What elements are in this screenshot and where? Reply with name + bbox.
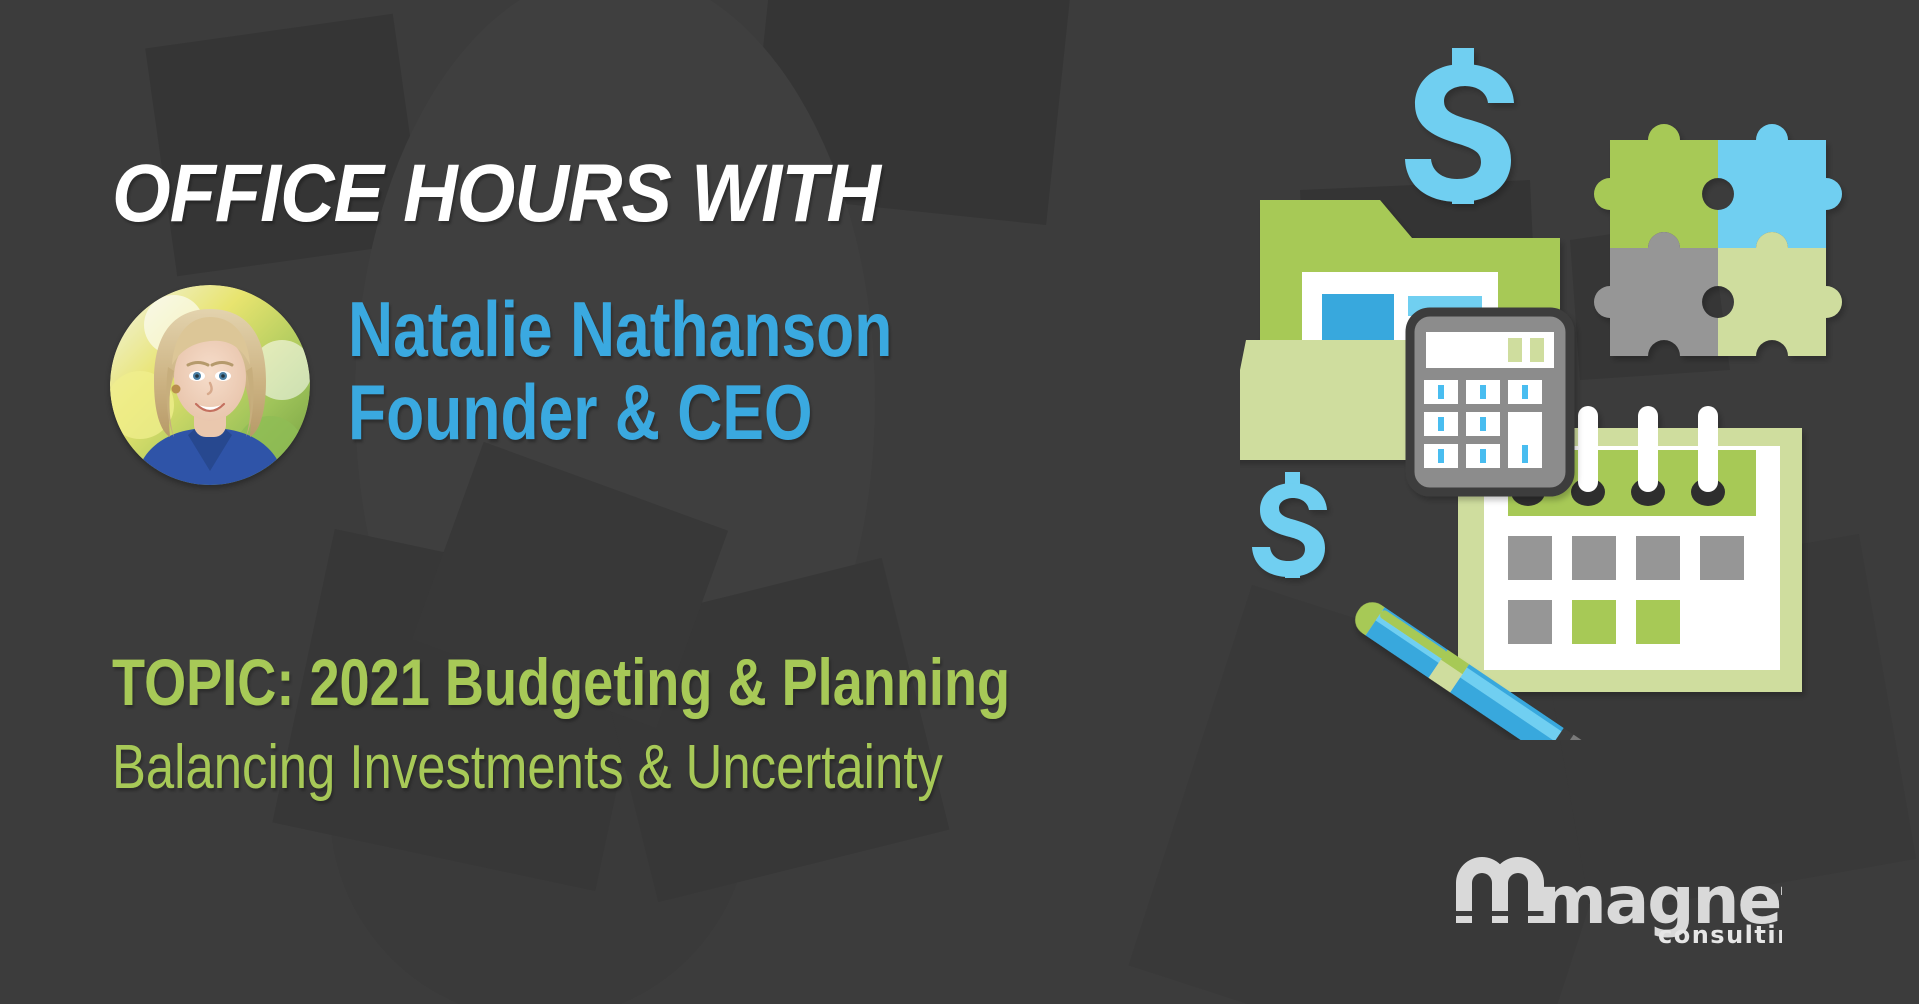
dollar-sign-icon: [1252, 472, 1327, 578]
avatar: [110, 285, 310, 485]
page-title: OFFICE HOURS WITH: [112, 152, 880, 236]
dollar-sign-icon: [1405, 48, 1514, 204]
speaker-info: Natalie Nathanson Founder & CEO: [348, 288, 892, 454]
illustration: [1240, 40, 1900, 740]
promo-banner: OFFICE HOURS WITH: [0, 0, 1919, 1004]
speaker-name: Natalie Nathanson: [348, 288, 892, 371]
speaker-title: Founder & CEO: [348, 371, 892, 454]
brand-logo: magnetude consulting: [1452, 845, 1782, 945]
puzzle-icon: [1594, 124, 1842, 356]
topic-subtitle: Balancing Investments & Uncertainty: [112, 736, 943, 800]
topic-title: TOPIC: 2021 Budgeting & Planning: [112, 648, 1010, 716]
calculator-icon: [1410, 312, 1570, 492]
logo-tagline: consulting: [1658, 921, 1782, 945]
